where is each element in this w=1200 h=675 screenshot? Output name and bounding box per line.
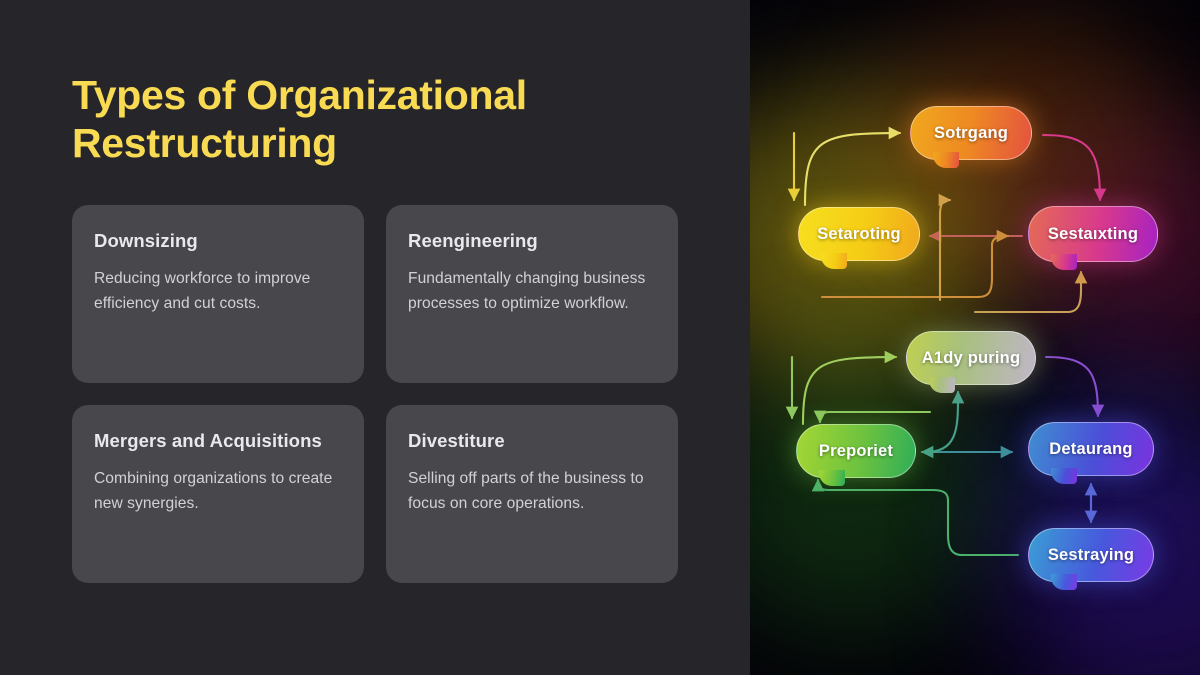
node-label: A1dy puring bbox=[922, 349, 1020, 368]
card-body: Selling off parts of the business to foc… bbox=[408, 466, 656, 517]
card-mergers-and-acquisitions[interactable]: Mergers and Acquisitions Combining organ… bbox=[72, 405, 364, 583]
node-sestraying[interactable]: Sestraying bbox=[1028, 528, 1154, 582]
node-label: Setaroting bbox=[817, 225, 901, 244]
edge-sestraying-to-preporiet bbox=[818, 480, 1018, 555]
card-reengineering[interactable]: Reengineering Fundamentally changing bus… bbox=[386, 205, 678, 383]
node-label: Sotrgang bbox=[934, 124, 1008, 143]
edge-sestaixting-to-sotrgang bbox=[1043, 135, 1100, 200]
card-title: Mergers and Acquisitions bbox=[94, 429, 342, 453]
edge-preporiet-curve-to-aldypuring bbox=[926, 392, 958, 452]
node-sestaixting[interactable]: Sestaıxting bbox=[1028, 206, 1158, 262]
card-title: Reengineering bbox=[408, 229, 656, 253]
node-label: Sestraying bbox=[1048, 546, 1134, 565]
card-downsizing[interactable]: Downsizing Reducing workforce to improve… bbox=[72, 205, 364, 383]
card-title: Divestiture bbox=[408, 429, 656, 453]
edge-feed-sestaixting-bottom bbox=[975, 272, 1081, 312]
flow-diagram-panel: Sotrgang Setaroting Sestaıxting A1dy pur… bbox=[750, 0, 1200, 675]
page-title: Types of Organizational Restructuring bbox=[72, 72, 632, 167]
node-label: Preporiet bbox=[819, 442, 893, 461]
node-detaurang[interactable]: Detaurang bbox=[1028, 422, 1154, 476]
node-preporiet[interactable]: Preporiet bbox=[796, 424, 916, 478]
card-body: Fundamentally changing business processe… bbox=[408, 266, 656, 317]
slide-root: Types of Organizational Restructuring Do… bbox=[0, 0, 1200, 675]
edge-preporiet-to-aldypuring bbox=[803, 357, 896, 424]
edge-elbow-into-preporiet-top bbox=[820, 412, 930, 422]
card-body: Combining organizations to create new sy… bbox=[94, 466, 342, 517]
card-divestiture[interactable]: Divestiture Selling off parts of the bus… bbox=[386, 405, 678, 583]
edge-sotrgang-to-sestaixting bbox=[940, 200, 950, 300]
edge-detaurang-to-aldypuring bbox=[1046, 357, 1098, 416]
card-title: Downsizing bbox=[94, 229, 342, 253]
node-label: Detaurang bbox=[1049, 440, 1132, 459]
left-content-panel: Types of Organizational Restructuring Do… bbox=[0, 0, 750, 675]
node-setaroting[interactable]: Setaroting bbox=[798, 207, 920, 261]
restructuring-card-grid: Downsizing Reducing workforce to improve… bbox=[72, 205, 680, 583]
diagram-canvas: Sotrgang Setaroting Sestaıxting A1dy pur… bbox=[750, 0, 1200, 675]
node-label: Sestaıxting bbox=[1048, 225, 1138, 244]
node-sotrgang[interactable]: Sotrgang bbox=[910, 106, 1032, 160]
card-body: Reducing workforce to improve efficiency… bbox=[94, 266, 342, 317]
node-aldypuring[interactable]: A1dy puring bbox=[906, 331, 1036, 385]
edge-setaroting-to-sotrgang bbox=[805, 133, 900, 205]
